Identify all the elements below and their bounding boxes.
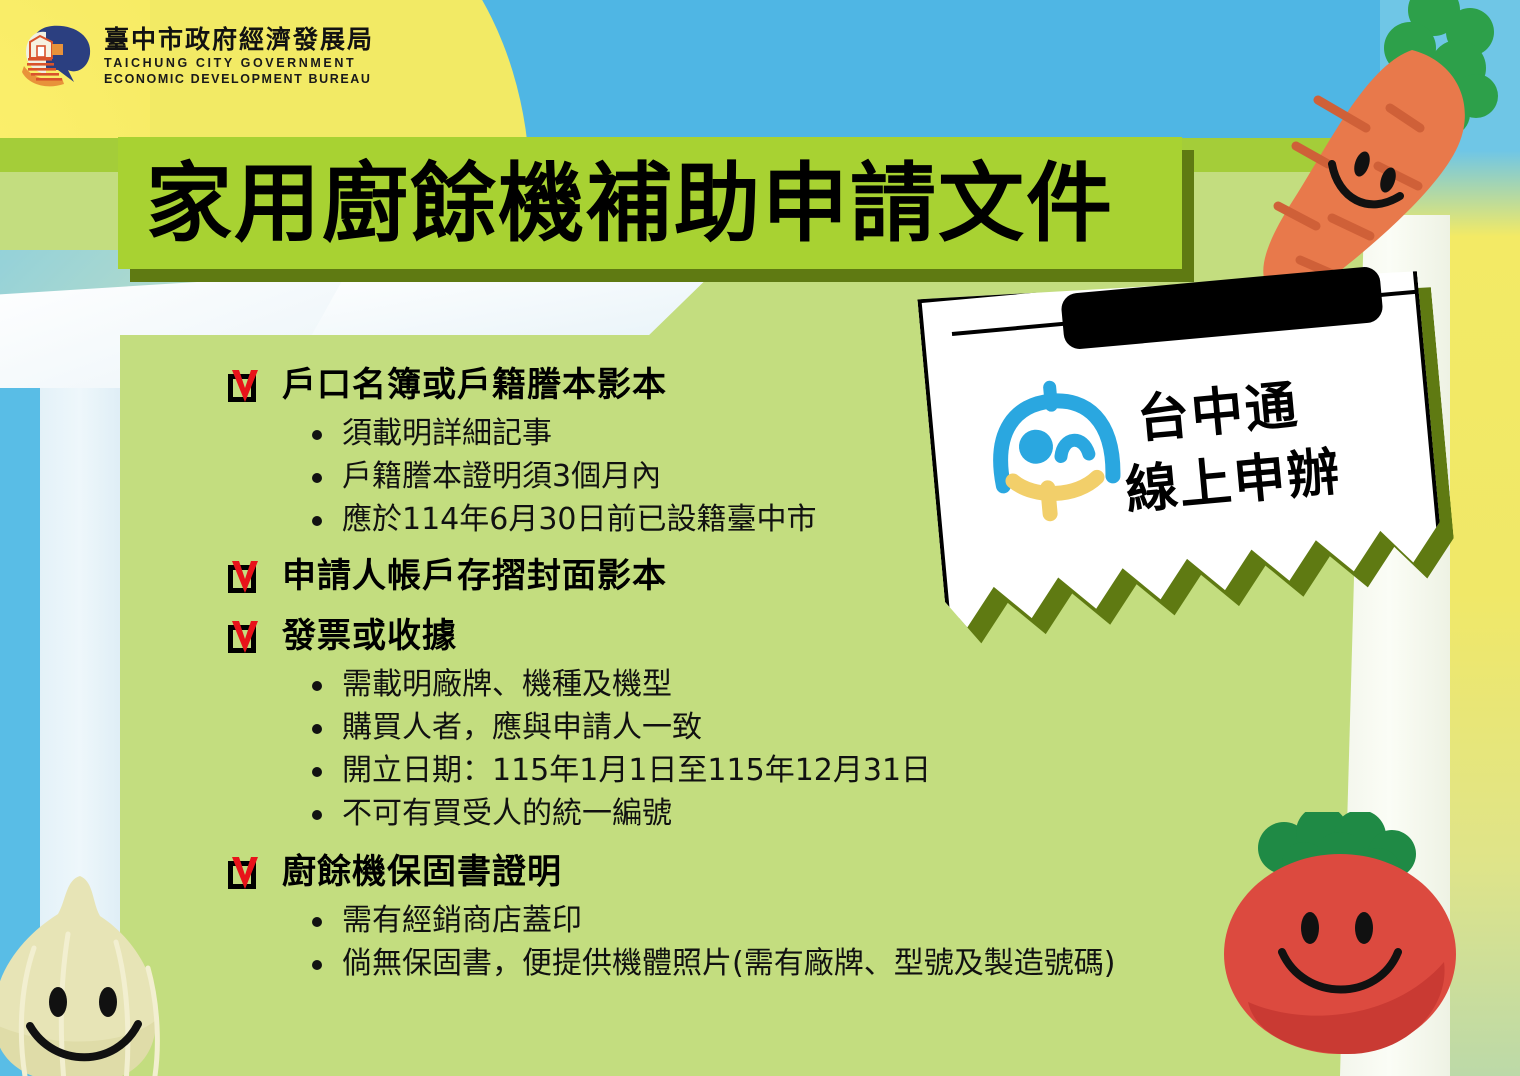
list-item: 倘無保固書，便提供機體照片(需有廠牌、型號及製造號碼) (308, 942, 1288, 985)
org-logo: 臺中市政府經濟發展局 TAICHUNG CITY GOVERNMENT ECON… (18, 22, 374, 90)
checked-checkbox-icon (228, 855, 262, 893)
requirement-bullets: 需有經銷商店蓋印 倘無保固書，便提供機體照片(需有廠牌、型號及製造號碼) (308, 899, 1288, 985)
requirement-heading: 戶口名簿或戶籍謄本影本 (282, 364, 667, 406)
card-text-block: 台中通 線上申辦 (1134, 359, 1435, 525)
requirement-section-4: 廚餘機保固書證明 需有經銷商店蓋印 倘無保固書，便提供機體照片(需有廠牌、型號及… (228, 851, 1288, 985)
taichung-city-government-logo-icon (18, 22, 94, 90)
org-name-zh: 臺中市政府經濟發展局 (104, 27, 374, 52)
requirement-heading: 發票或收據 (282, 615, 457, 657)
requirement-heading: 廚餘機保固書證明 (282, 851, 562, 893)
taichung-tong-robot-mascot-icon (974, 365, 1137, 528)
smiling-garlic-icon (0, 872, 206, 1076)
requirement-bullets: 需載明廠牌、機種及機型 購買人者，應與申請人一致 開立日期：115年1月1日至1… (308, 663, 1288, 835)
requirement-heading: 申請人帳戶存摺封面影本 (282, 555, 667, 597)
list-item: 開立日期：115年1月1日至115年12月31日 (308, 749, 1288, 792)
requirement-heading-row: 廚餘機保固書證明 (228, 851, 1288, 893)
org-name-en-line1: TAICHUNG CITY GOVERNMENT (104, 57, 374, 70)
checked-checkbox-icon (228, 619, 262, 657)
smiling-tomato-icon (1212, 812, 1472, 1062)
list-item: 購買人者，應與申請人一致 (308, 706, 1288, 749)
online-application-card[interactable]: 台中通 線上申辦 (932, 276, 1462, 656)
page-title: 家用廚餘機補助申請文件 (146, 152, 1166, 258)
checked-checkbox-icon (228, 559, 262, 597)
list-item: 不可有買受人的統一編號 (308, 792, 1288, 835)
org-name-block: 臺中市政府經濟發展局 TAICHUNG CITY GOVERNMENT ECON… (104, 27, 374, 85)
list-item: 需有經銷商店蓋印 (308, 899, 1288, 942)
list-item: 需載明廠牌、機種及機型 (308, 663, 1288, 706)
checked-checkbox-icon (228, 368, 262, 406)
org-name-en-line2: ECONOMIC DEVELOPMENT BUREAU (104, 73, 374, 86)
infographic-poster: 臺中市政府經濟發展局 TAICHUNG CITY GOVERNMENT ECON… (0, 0, 1520, 1076)
